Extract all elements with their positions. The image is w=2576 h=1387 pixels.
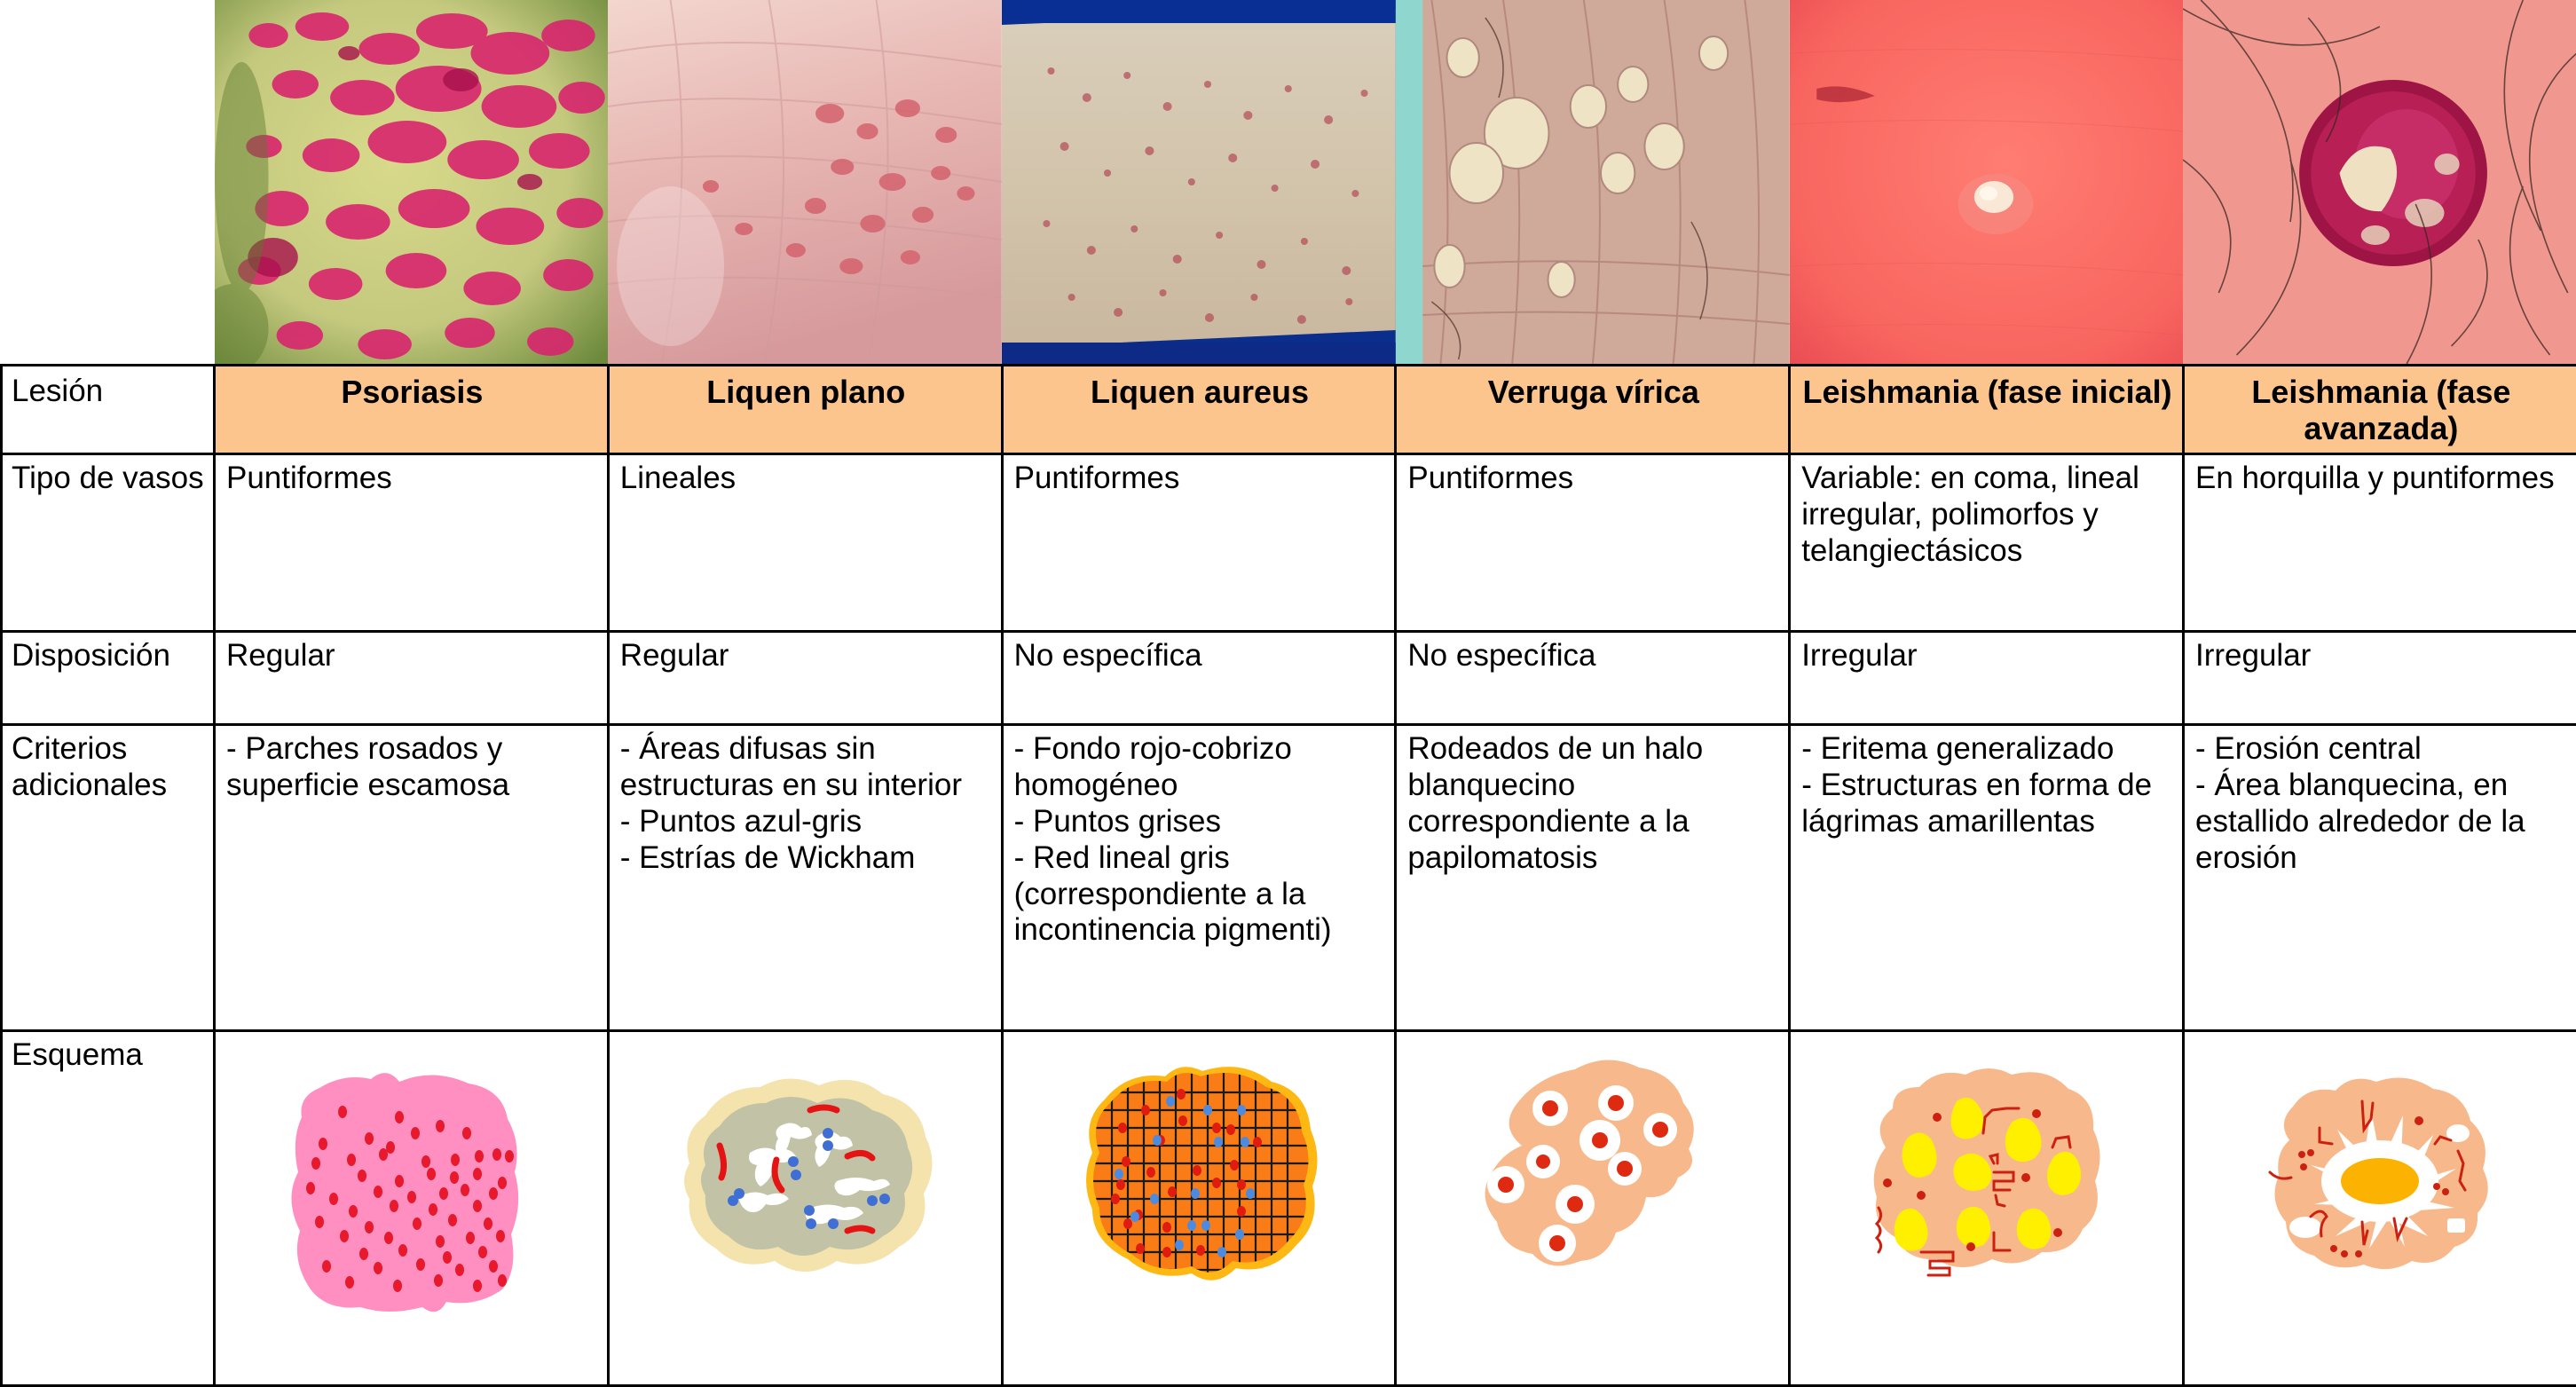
row-label-vessel-type-text: Tipo de vasos bbox=[12, 461, 209, 497]
lesion-header-row: Lesión Psoriasis Liquen plano Liquen aur… bbox=[2, 366, 2576, 454]
vessel-type-verruga-virica-text: Puntiformes bbox=[1407, 461, 1779, 497]
vessel-type-row: Tipo de vasos Puntiformes Lineales Punti… bbox=[2, 453, 2576, 631]
vessel-type-liquen-aureus: Puntiformes bbox=[1002, 453, 1396, 631]
row-label-arrangement: Disposición bbox=[2, 631, 215, 724]
liquen-aureus-dermoscopy-photo bbox=[1002, 0, 1396, 364]
arrangement-liquen-aureus-text: No específica bbox=[1014, 638, 1386, 674]
vessel-type-leishmania-avanzada: En horquilla y puntiformes bbox=[2183, 453, 2576, 631]
row-label-vessel-type: Tipo de vasos bbox=[2, 453, 215, 631]
header-verruga-virica: Verruga vírica bbox=[1396, 366, 1790, 454]
photo-cell-verruga-virica bbox=[1396, 0, 1790, 366]
liquen-plano-dermoscopy-photo bbox=[608, 0, 1002, 364]
vessel-type-leishmania-inicial-text: Variable: en coma, lineal irregular, pol… bbox=[1801, 461, 2173, 570]
leishmania-inicial-dermoscopy-photo bbox=[1790, 0, 2184, 364]
header-leishmania-inicial: Leishmania (fase inicial) bbox=[1790, 366, 2184, 454]
row-label-scheme: Esquema bbox=[2, 1030, 215, 1385]
scheme-psoriasis bbox=[215, 1030, 609, 1385]
leishmania-inicial-scheme-diagram bbox=[1792, 1048, 2180, 1341]
vessel-type-leishmania-avanzada-text: En horquilla y puntiformes bbox=[2195, 461, 2567, 497]
vessel-type-psoriasis: Puntiformes bbox=[215, 453, 609, 631]
extra-criteria-liquen-aureus: - Fondo rojo-cobrizo homogéneo - Puntos … bbox=[1002, 724, 1396, 1030]
header-leishmania-avanzada: Leishmania (fase avanzada) bbox=[2183, 366, 2576, 454]
psoriasis-dermoscopy-photo bbox=[215, 0, 609, 364]
extra-criteria-psoriasis-text: - Parches rosados y superficie escamosa bbox=[226, 731, 598, 804]
arrangement-verruga-virica: No específica bbox=[1396, 631, 1790, 724]
lesion-comparison-table-wrapper: Lesión Psoriasis Liquen plano Liquen aur… bbox=[0, 0, 2576, 1368]
header-psoriasis: Psoriasis bbox=[215, 366, 609, 454]
header-liquen-aureus: Liquen aureus bbox=[1002, 366, 1396, 454]
psoriasis-scheme-diagram bbox=[217, 1048, 605, 1341]
extra-criteria-leishmania-avanzada: - Erosión central - Área blanquecina, en… bbox=[2183, 724, 2576, 1030]
arrangement-leishmania-avanzada-text: Irregular bbox=[2195, 638, 2567, 674]
vessel-type-liquen-plano-text: Lineales bbox=[620, 461, 992, 497]
photo-cell-liquen-plano bbox=[608, 0, 1002, 366]
extra-criteria-row: Criterios adicionales - Parches rosados … bbox=[2, 724, 2576, 1030]
extra-criteria-liquen-plano: - Áreas difusas sin estructuras en su in… bbox=[608, 724, 1002, 1030]
scheme-leishmania-inicial bbox=[1790, 1030, 2184, 1385]
scheme-leishmania-avanzada bbox=[2183, 1030, 2576, 1385]
arrangement-row: Disposición Regular Regular No específic… bbox=[2, 631, 2576, 724]
lesion-comparison-table: Lesión Psoriasis Liquen plano Liquen aur… bbox=[0, 0, 2576, 1387]
clinical-photo-row bbox=[2, 0, 2576, 366]
arrangement-liquen-plano: Regular bbox=[608, 631, 1002, 724]
row-label-scheme-text: Esquema bbox=[12, 1037, 209, 1074]
liquen-plano-scheme-diagram bbox=[611, 1048, 999, 1341]
row-label-extra-criteria: Criterios adicionales bbox=[2, 724, 215, 1030]
arrangement-psoriasis: Regular bbox=[215, 631, 609, 724]
photo-cell-liquen-aureus bbox=[1002, 0, 1396, 366]
leishmania-avanzada-scheme-diagram bbox=[2186, 1048, 2574, 1341]
extra-criteria-leishmania-inicial: - Eritema generalizado - Estructuras en … bbox=[1790, 724, 2184, 1030]
photo-row-label-spacer bbox=[2, 0, 215, 366]
vessel-type-liquen-aureus-text: Puntiformes bbox=[1014, 461, 1386, 497]
arrangement-leishmania-inicial-text: Irregular bbox=[1801, 638, 2173, 674]
extra-criteria-verruga-virica: Rodeados de un halo blanquecino correspo… bbox=[1396, 724, 1790, 1030]
verruga-virica-dermoscopy-photo bbox=[1396, 0, 1790, 364]
arrangement-liquen-aureus: No específica bbox=[1002, 631, 1396, 724]
row-label-arrangement-text: Disposición bbox=[12, 638, 209, 674]
vessel-type-psoriasis-text: Puntiformes bbox=[226, 461, 598, 497]
extra-criteria-liquen-plano-text: - Áreas difusas sin estructuras en su in… bbox=[620, 731, 992, 877]
scheme-row: Esquema bbox=[2, 1030, 2576, 1385]
verruga-virica-scheme-diagram bbox=[1398, 1048, 1786, 1341]
liquen-aureus-scheme-diagram bbox=[1005, 1048, 1393, 1341]
scheme-liquen-plano bbox=[608, 1030, 1002, 1385]
extra-criteria-psoriasis: - Parches rosados y superficie escamosa bbox=[215, 724, 609, 1030]
arrangement-verruga-virica-text: No específica bbox=[1407, 638, 1779, 674]
arrangement-psoriasis-text: Regular bbox=[226, 638, 598, 674]
arrangement-leishmania-avanzada: Irregular bbox=[2183, 631, 2576, 724]
arrangement-leishmania-inicial: Irregular bbox=[1790, 631, 2184, 724]
leishmania-avanzada-dermoscopy-photo bbox=[2183, 0, 2576, 364]
row-label-lesion: Lesión bbox=[2, 366, 215, 454]
extra-criteria-leishmania-inicial-text: - Eritema generalizado - Estructuras en … bbox=[1801, 731, 2201, 840]
photo-cell-psoriasis bbox=[215, 0, 609, 366]
row-label-extra-criteria-text: Criterios adicionales bbox=[12, 731, 209, 804]
header-liquen-plano: Liquen plano bbox=[608, 366, 1002, 454]
photo-cell-leishmania-inicial bbox=[1790, 0, 2184, 366]
arrangement-liquen-plano-text: Regular bbox=[620, 638, 992, 674]
vessel-type-verruga-virica: Puntiformes bbox=[1396, 453, 1790, 631]
photo-cell-leishmania-avanzada bbox=[2183, 0, 2576, 366]
extra-criteria-liquen-aureus-text: - Fondo rojo-cobrizo homogéneo - Puntos … bbox=[1014, 731, 1386, 950]
scheme-liquen-aureus bbox=[1002, 1030, 1396, 1385]
extra-criteria-verruga-virica-text: Rodeados de un halo blanquecino correspo… bbox=[1407, 731, 1779, 877]
extra-criteria-leishmania-avanzada-text: - Erosión central - Área blanquecina, en… bbox=[2195, 731, 2576, 877]
vessel-type-liquen-plano: Lineales bbox=[608, 453, 1002, 631]
vessel-type-leishmania-inicial: Variable: en coma, lineal irregular, pol… bbox=[1790, 453, 2184, 631]
scheme-verruga-virica bbox=[1396, 1030, 1790, 1385]
